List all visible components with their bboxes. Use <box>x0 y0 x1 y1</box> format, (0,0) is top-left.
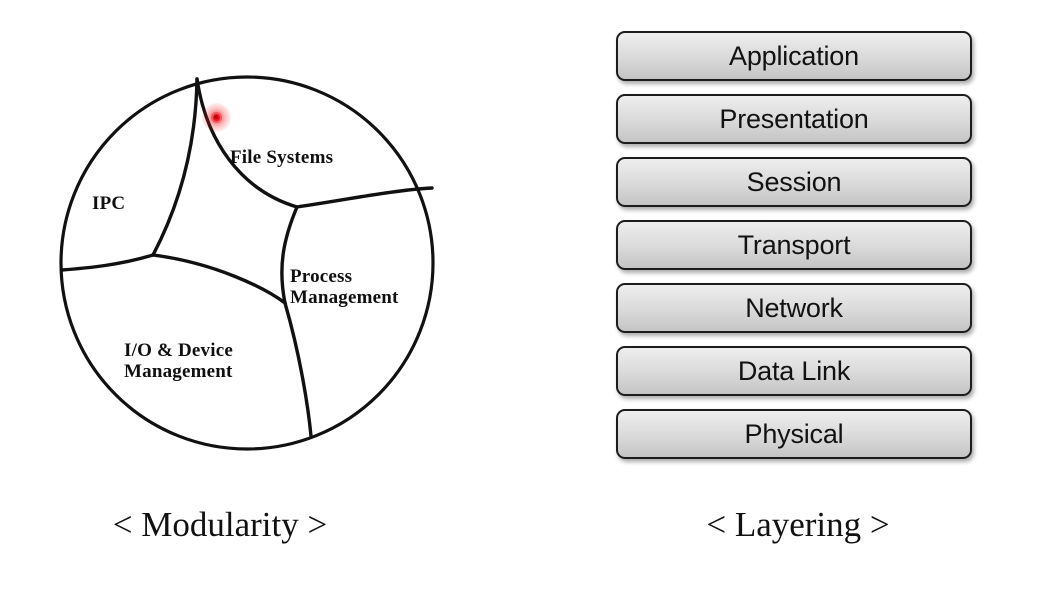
layer-label-presentation: Presentation <box>719 106 868 133</box>
layer-box-session[interactable]: Session <box>616 157 972 207</box>
layer-box-application[interactable]: Application <box>616 31 972 81</box>
layer-label-transport: Transport <box>738 232 851 259</box>
region-label-file-systems: File Systems <box>230 147 333 168</box>
region-label-process-management: ProcessManagement <box>290 266 399 309</box>
modularity-diagram: IPC File Systems ProcessManagement I/O &… <box>0 0 522 592</box>
layer-label-session: Session <box>747 169 842 196</box>
region-label-io-device-management: I/O & DeviceManagement <box>124 340 233 383</box>
layer-label-data-link: Data Link <box>738 358 850 385</box>
layering-diagram: Application Presentation Session Transpo… <box>522 0 1044 592</box>
layer-label-physical: Physical <box>745 421 844 448</box>
layer-stack: Application Presentation Session Transpo… <box>616 31 972 472</box>
layer-box-network[interactable]: Network <box>616 283 972 333</box>
caption-modularity: < Modularity > <box>0 505 440 545</box>
layer-label-application: Application <box>729 43 859 70</box>
layer-label-network: Network <box>745 295 843 322</box>
layer-box-transport[interactable]: Transport <box>616 220 972 270</box>
layer-box-physical[interactable]: Physical <box>616 409 972 459</box>
region-label-ipc: IPC <box>92 193 125 214</box>
caption-layering: < Layering > <box>578 505 1018 545</box>
layer-box-data-link[interactable]: Data Link <box>616 346 972 396</box>
modularity-circle-svg <box>0 0 522 592</box>
layer-box-presentation[interactable]: Presentation <box>616 94 972 144</box>
